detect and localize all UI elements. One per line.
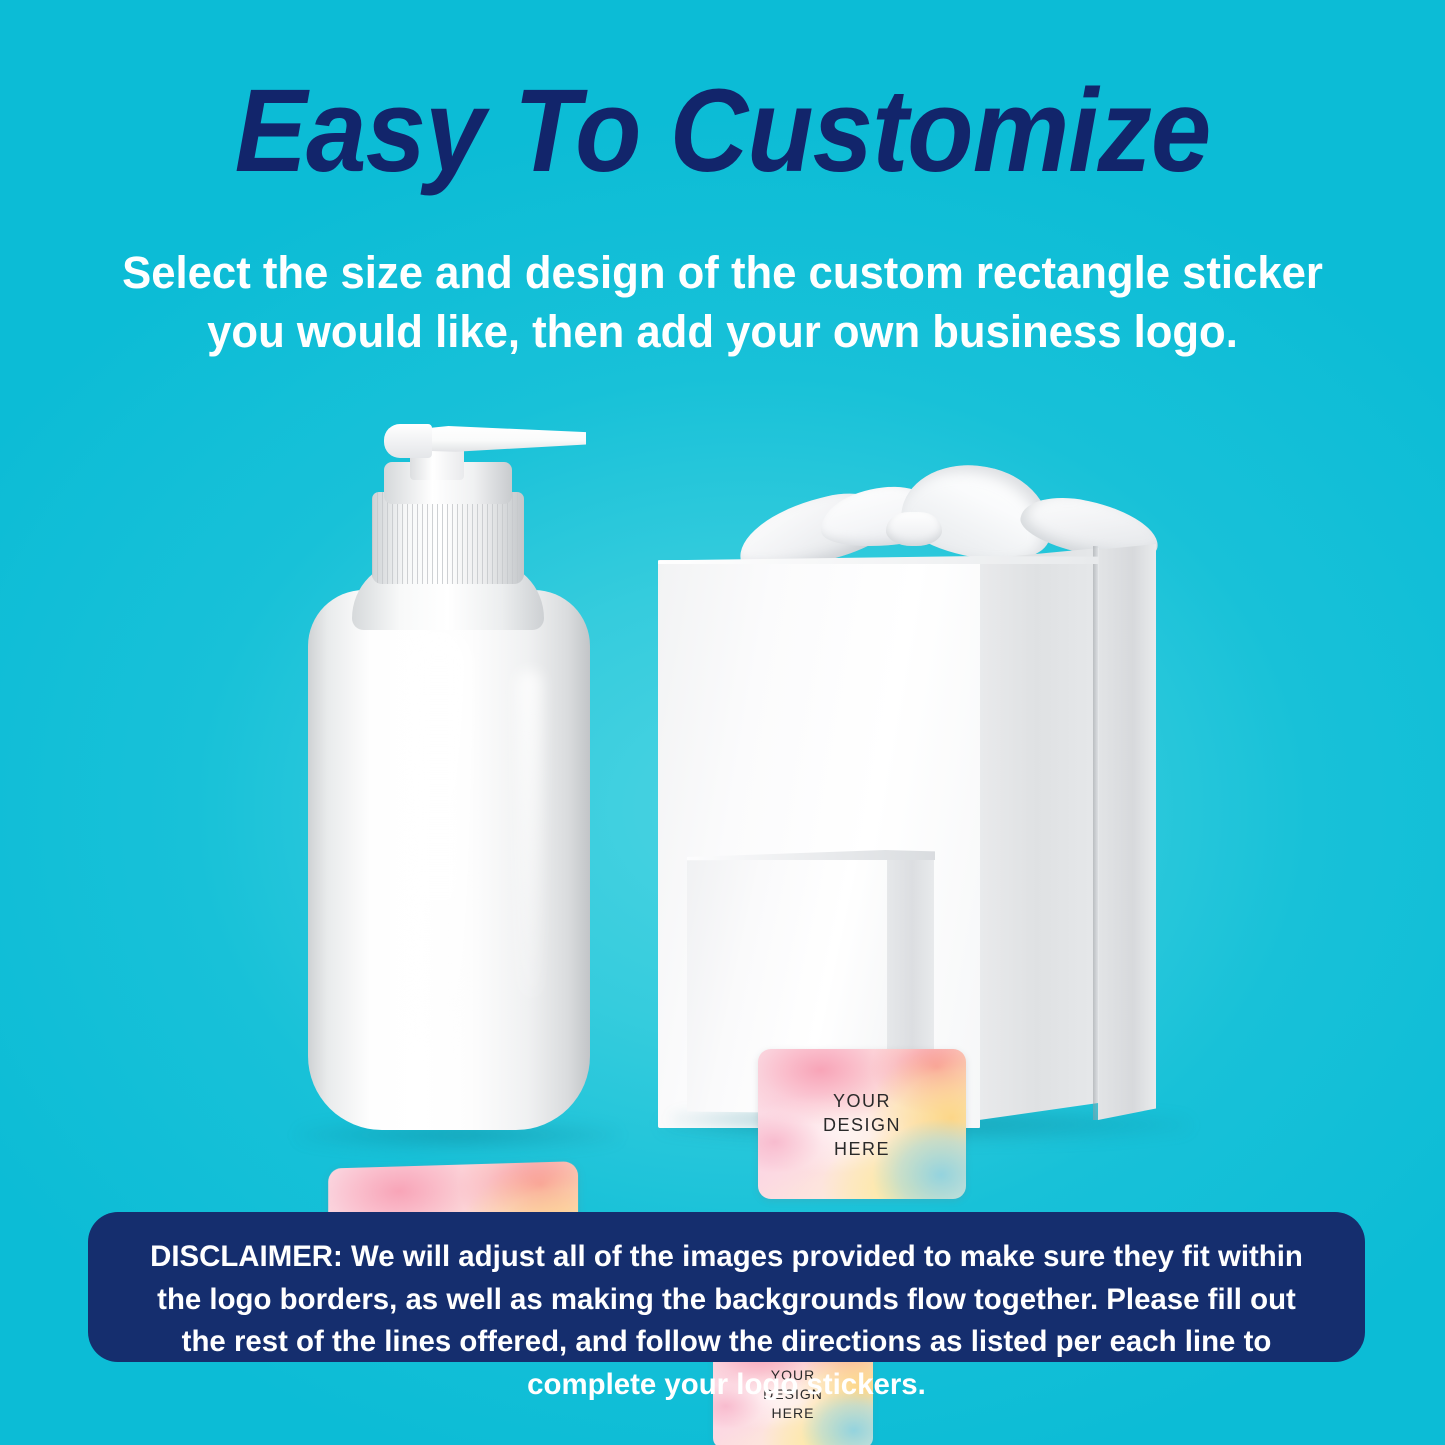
bottle-highlight-secondary (516, 670, 542, 1000)
gift-box-seam (1093, 546, 1098, 1120)
sticker-line-1: YOUR (758, 1089, 966, 1113)
pump-bottle-product (280, 420, 640, 1160)
gift-box-back-panel (1098, 544, 1156, 1120)
sticker-line-3: HERE (758, 1137, 966, 1161)
product-scene: YOUR DESIGN HERE YOUR DESIGN HERE YOUR D… (0, 380, 1445, 1200)
disclaimer-text: DISCLAIMER: We will adjust all of the im… (138, 1236, 1315, 1406)
promo-graphic: Easy To Customize Select the size and de… (0, 0, 1445, 1445)
bow-knot (886, 512, 942, 546)
bottle-pump-nozzle-head (384, 424, 432, 458)
small-box-top-lip (687, 850, 935, 860)
disclaimer-lead: DISCLAIMER: (150, 1240, 343, 1273)
subtitle-line-1: Select the size and design of the custom… (97, 243, 1347, 302)
bottle-highlight (408, 630, 470, 1050)
disclaimer-banner: DISCLAIMER: We will adjust all of the im… (88, 1212, 1365, 1362)
page-subtitle: Select the size and design of the custom… (97, 243, 1347, 362)
sticker-line-2: DESIGN (758, 1113, 966, 1137)
sticker-gift-text: YOUR DESIGN HERE (758, 1089, 966, 1161)
subtitle-line-2: you would like, then add your own busine… (97, 302, 1347, 361)
bottle-pump-collar (372, 492, 524, 584)
page-title: Easy To Customize (58, 72, 1387, 190)
sticker-on-gift-box[interactable]: YOUR DESIGN HERE (758, 1049, 966, 1199)
gift-box-side-panel (979, 548, 1099, 1120)
